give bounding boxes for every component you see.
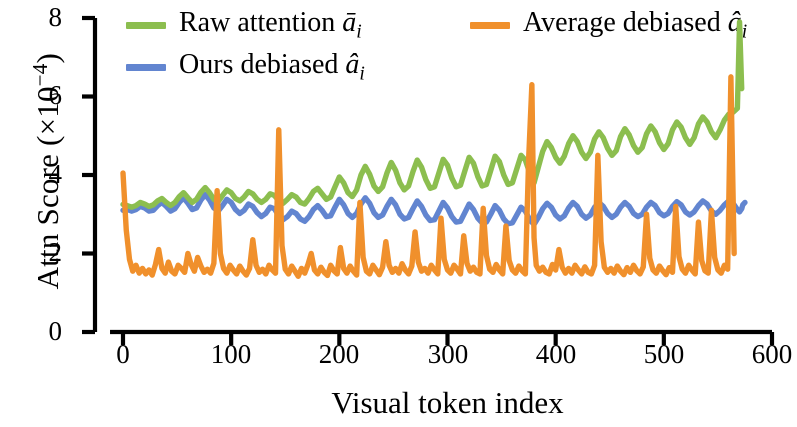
series-line-raw-attention: [123, 22, 742, 207]
plot-area: [0, 0, 797, 427]
axis-lines: [95, 18, 772, 332]
series-line-average-debiased: [123, 77, 734, 276]
data-series-group: [123, 22, 745, 276]
chart-figure: Attn Score (×10−4) 8 6 4 2 0 0 100 200 3…: [0, 0, 797, 427]
